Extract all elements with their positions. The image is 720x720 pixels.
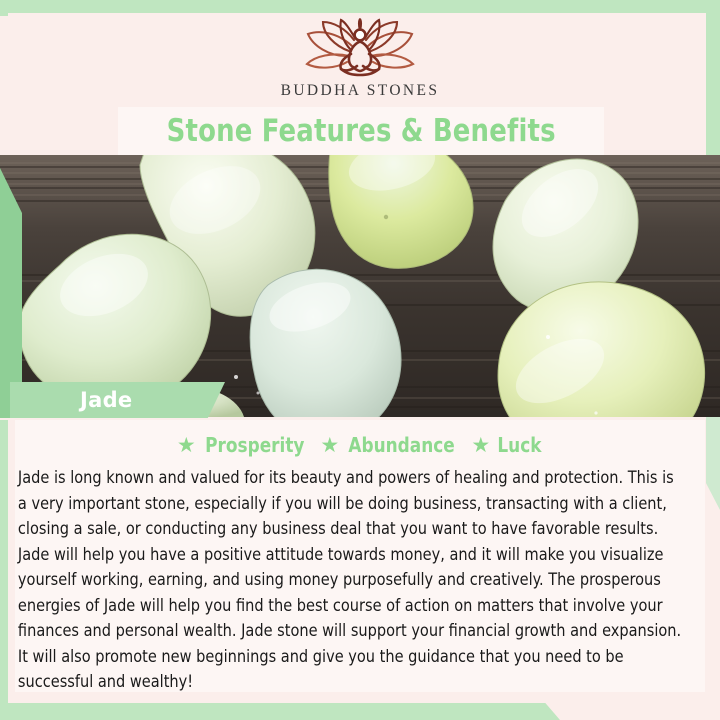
- star-icon: ★: [320, 435, 339, 456]
- keyword-row: ★ Prosperity ★ Abundance ★ Luck: [15, 420, 705, 460]
- star-icon: ★: [177, 435, 196, 456]
- star-icon: ★: [471, 435, 490, 456]
- stone-name: Jade: [80, 388, 132, 412]
- keyword-label: Prosperity: [205, 433, 304, 457]
- stone-photo: [0, 155, 720, 417]
- stone-name-ribbon: Jade: [10, 382, 225, 418]
- keyword-abundance: ★ Abundance: [320, 433, 458, 457]
- keyword-prosperity: ★ Prosperity: [177, 433, 307, 457]
- description-paragraph: Jade is long known and valued for its be…: [15, 465, 688, 695]
- content-panel: ★ Prosperity ★ Abundance ★ Luck Jade is …: [15, 420, 705, 692]
- keyword-luck: ★ Luck: [471, 433, 543, 457]
- brand-logo: BUDDHA STONES: [0, 18, 720, 100]
- keyword-label: Luck: [498, 433, 542, 457]
- title-banner: Stone Features & Benefits: [118, 107, 604, 155]
- keyword-label: Abundance: [349, 433, 455, 457]
- poster: BUDDHA STONES Stone Features & Benefits: [0, 0, 720, 720]
- brand-name: BUDDHA STONES: [0, 82, 720, 100]
- page-title: Stone Features & Benefits: [166, 113, 555, 149]
- jade-stones-illustration: [0, 155, 720, 417]
- lotus-meditation-icon: [289, 18, 431, 80]
